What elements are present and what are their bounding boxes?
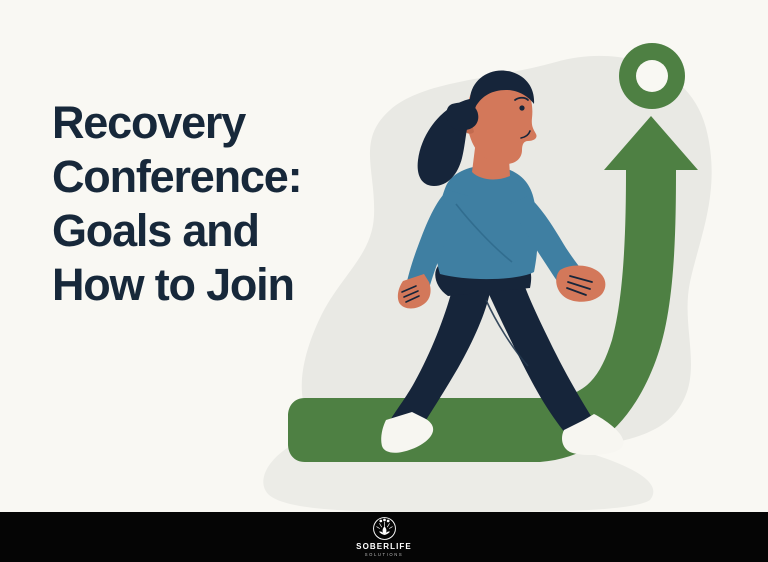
footer-bar: SOBERLIFE SOLUTIONS — [0, 512, 768, 562]
brand-name: SOBERLIFE — [356, 542, 412, 551]
lotus-hands-badge-icon — [372, 516, 397, 541]
page-title: Recovery Conference: Goals and How to Jo… — [52, 96, 392, 312]
headline-line-4: How to Join — [52, 258, 392, 312]
poster-canvas: Recovery Conference: Goals and How to Jo… — [0, 0, 768, 562]
brand-lockup[interactable]: SOBERLIFE SOLUTIONS — [356, 516, 412, 558]
headline-line-2: Conference: — [52, 150, 392, 204]
brand-tagline: SOLUTIONS — [365, 552, 404, 558]
headline-line-3: Goals and — [52, 204, 392, 258]
headline-line-1: Recovery — [52, 96, 392, 150]
